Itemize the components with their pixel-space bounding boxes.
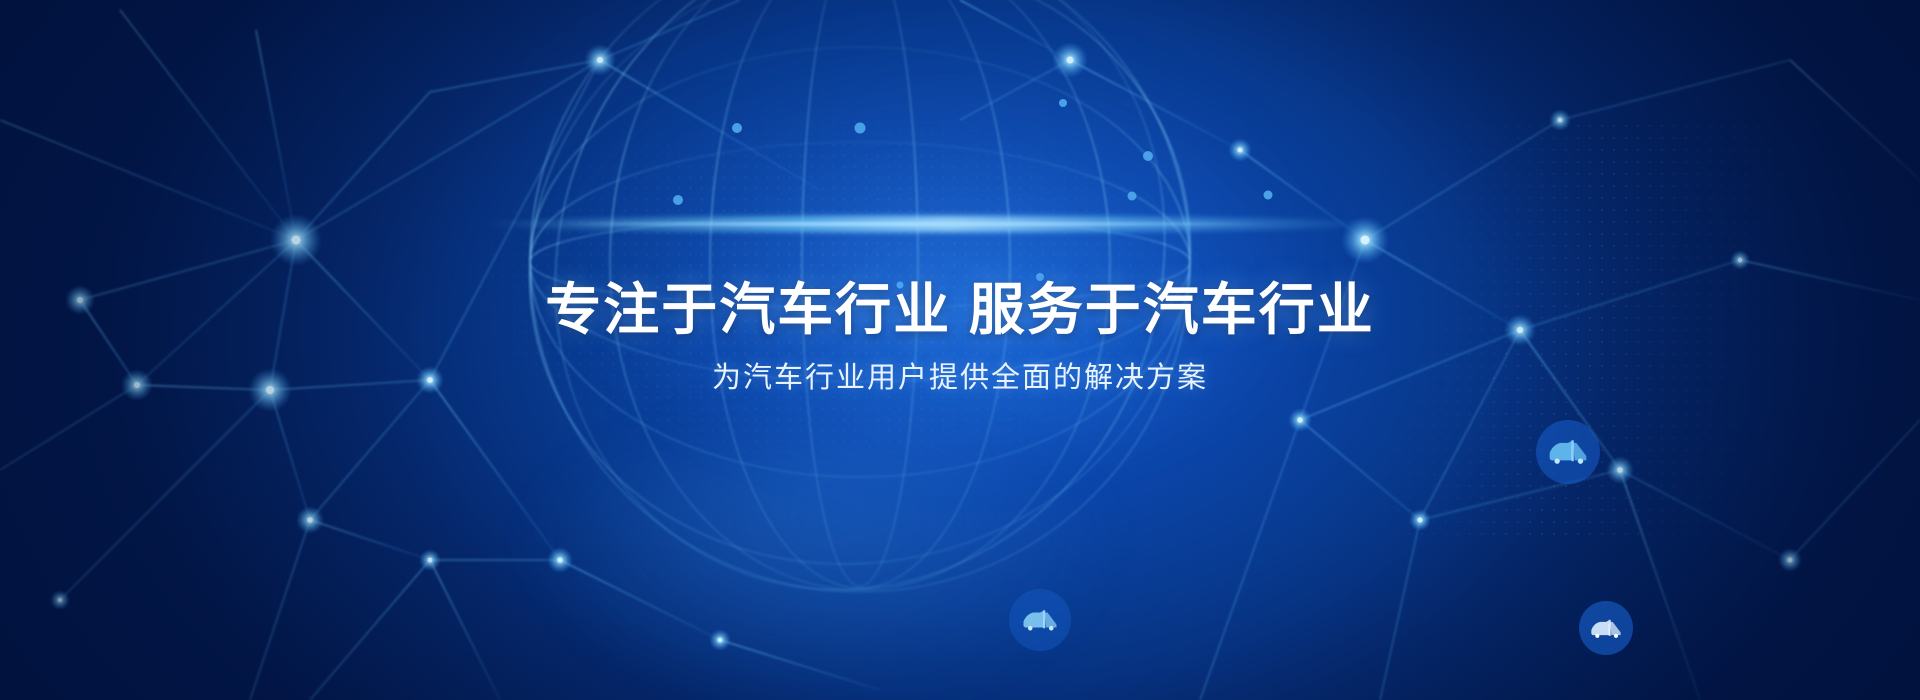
page-subtitle: 为汽车行业用户提供全面的解决方案 — [712, 364, 1208, 393]
page-title: 专注于汽车行业 服务于汽车行业 — [545, 282, 1375, 338]
truck-glyph-icon — [1548, 438, 1588, 466]
hero-banner: 专注于汽车行业 服务于汽车行业 为汽车行业用户提供全面的解决方案 — [0, 0, 1920, 700]
banner-content: 专注于汽车行业 服务于汽车行业 为汽车行业用户提供全面的解决方案 — [0, 0, 1920, 700]
truck-icon-center — [1009, 589, 1071, 651]
truck-icon-upper-right — [1536, 420, 1600, 484]
truck-glyph-icon — [1022, 607, 1058, 633]
truck-icon-lower-right — [1579, 601, 1633, 655]
truck-glyph-icon — [1590, 617, 1622, 640]
